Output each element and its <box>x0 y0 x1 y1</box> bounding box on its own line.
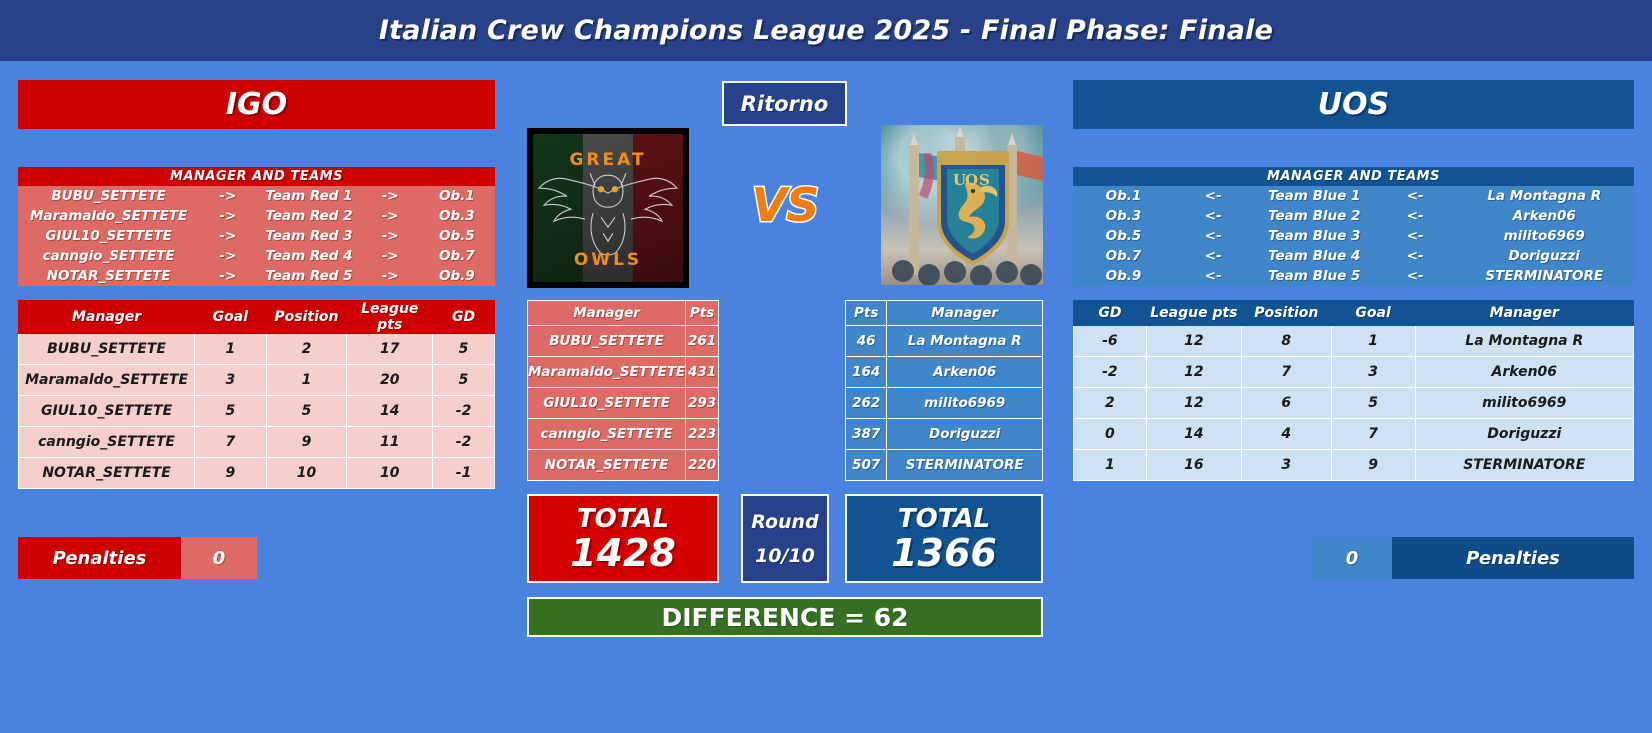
cell-slot: Ob.9 <box>1073 266 1174 286</box>
cell-manager: NOTAR_SETTETE <box>18 266 199 286</box>
cell-team: Team Blue 2 <box>1253 206 1376 226</box>
cell-slot: Ob.1 <box>419 186 495 206</box>
left-total-value: 1428 <box>570 534 676 574</box>
cell-league-pts: 14 <box>347 396 433 427</box>
table-row: Ob.5 <- Team Blue 3 <- milito6969 <box>1073 226 1634 246</box>
cell-pts: 507 <box>846 450 887 481</box>
cell-position: 6 <box>1241 388 1331 419</box>
cell-goal: 9 <box>195 458 266 489</box>
cell-position: 3 <box>1241 450 1331 481</box>
svg-text:S: S <box>979 171 990 189</box>
cell-arrow: <- <box>1174 246 1253 266</box>
left-penalties-label: Penalties <box>18 537 181 579</box>
cell-manager: Doriguzzi <box>887 419 1043 450</box>
table-row: Maramaldo_SETTETE 431 <box>528 357 719 388</box>
cell-manager: Doriguzzi <box>1454 246 1634 266</box>
cell-manager: Maramaldo_SETTETE <box>528 357 686 388</box>
cell-pts: 46 <box>846 326 887 357</box>
cell-gd: -2 <box>1074 357 1147 388</box>
cell-manager: milito6969 <box>1454 226 1634 246</box>
table-row: 262 milito6969 <box>846 388 1043 419</box>
cell-manager: Maramaldo_SETTETE <box>18 206 199 226</box>
crest-bottom-text: OWLS <box>527 250 689 270</box>
cell-gd: 2 <box>1074 388 1147 419</box>
cell-arrow: -> <box>361 266 418 286</box>
table-row: GIUL10_SETTETE 5 5 14 -2 <box>19 396 495 427</box>
table-row: Ob.1 <- Team Blue 1 <- La Montagna R <box>1073 186 1634 206</box>
cell-manager: STERMINATORE <box>887 450 1043 481</box>
cell-manager: milito6969 <box>887 388 1043 419</box>
cell-pts: 431 <box>686 357 719 388</box>
table-row: NOTAR_SETTETE 9 10 10 -1 <box>19 458 495 489</box>
cell-manager: La Montagna R <box>1454 186 1634 206</box>
cell-gd: 5 <box>433 334 495 365</box>
cell-arrow: <- <box>1174 266 1253 286</box>
cell-league-pts: 16 <box>1146 450 1241 481</box>
cell-slot: Ob.5 <box>1073 226 1174 246</box>
left-stats-table: Manager Goal Position League pts GD BUBU… <box>18 300 495 489</box>
table-row: Ob.9 <- Team Blue 5 <- STERMINATORE <box>1073 266 1634 286</box>
cell-manager: La Montagna R <box>887 326 1043 357</box>
col-goal: Goal <box>1331 301 1415 326</box>
right-stats-table: GD League pts Position Goal Manager -6 1… <box>1073 300 1634 481</box>
left-penalties: Penalties 0 <box>18 537 257 579</box>
cell-manager: milito6969 <box>1415 388 1633 419</box>
col-gd: GD <box>433 301 495 334</box>
cell-league-pts: 12 <box>1146 388 1241 419</box>
right-penalties-value: 0 <box>1312 537 1392 579</box>
round-value: 10/10 <box>755 545 815 567</box>
right-total-box: TOTAL 1366 <box>845 494 1043 583</box>
cell-position: 1 <box>266 365 347 396</box>
table-row: -2 12 7 3 Arken06 <box>1074 357 1634 388</box>
vs-label: VS <box>742 178 828 232</box>
col-manager: Manager <box>887 301 1043 326</box>
table-row: 164 Arken06 <box>846 357 1043 388</box>
right-penalties-label: Penalties <box>1392 537 1634 579</box>
cell-team: Team Blue 5 <box>1253 266 1376 286</box>
cell-team: Team Red 1 <box>256 186 361 206</box>
col-position: Position <box>266 301 347 334</box>
right-total-label: TOTAL <box>898 504 990 534</box>
cell-position: 7 <box>1241 357 1331 388</box>
table-row: GIUL10_SETTETE 293 <box>528 388 719 419</box>
table-row: Maramaldo_SETTETE 3 1 20 5 <box>19 365 495 396</box>
cell-league-pts: 17 <box>347 334 433 365</box>
cell-league-pts: 11 <box>347 427 433 458</box>
crest-top-text: GREAT <box>527 150 689 170</box>
round-label: Round <box>751 511 818 533</box>
right-penalties: 0 Penalties <box>1312 537 1634 579</box>
cell-goal: 1 <box>1331 326 1415 357</box>
table-row: Maramaldo_SETTETE -> Team Red 2 -> Ob.3 <box>18 206 495 226</box>
col-pts: Pts <box>686 301 719 326</box>
cell-pts: 387 <box>846 419 887 450</box>
cell-arrow: <- <box>1376 186 1455 206</box>
cell-manager: STERMINATORE <box>1454 266 1634 286</box>
cell-arrow: <- <box>1174 186 1253 206</box>
table-header-row: Manager Goal Position League pts GD <box>19 301 495 334</box>
page-title-bar: Italian Crew Champions League 2025 - Fin… <box>0 0 1652 61</box>
cell-position: 8 <box>1241 326 1331 357</box>
col-pts: Pts <box>846 301 887 326</box>
cell-arrow: -> <box>361 226 418 246</box>
left-team-banner: IGO <box>18 80 495 129</box>
cell-league-pts: 20 <box>347 365 433 396</box>
col-manager: Manager <box>1415 301 1633 326</box>
round-box: Round 10/10 <box>741 494 829 583</box>
cell-team: Team Blue 1 <box>1253 186 1376 206</box>
cell-manager: canngio_SETTETE <box>18 246 199 266</box>
cell-position: 10 <box>266 458 347 489</box>
right-points-table: Pts Manager 46 La Montagna R 164 Arken06… <box>845 300 1043 481</box>
right-total-value: 1366 <box>891 534 997 574</box>
right-manager-teams-header: MANAGER AND TEAMS <box>1073 167 1634 186</box>
cell-pts: 223 <box>686 419 719 450</box>
cell-slot: Ob.1 <box>1073 186 1174 206</box>
cell-slot: Ob.3 <box>1073 206 1174 226</box>
cell-manager: NOTAR_SETTETE <box>528 450 686 481</box>
table-row: NOTAR_SETTETE 220 <box>528 450 719 481</box>
table-row: 46 La Montagna R <box>846 326 1043 357</box>
table-row: 0 14 4 7 Doriguzzi <box>1074 419 1634 450</box>
cell-arrow: -> <box>199 266 256 286</box>
cell-manager: Arken06 <box>1415 357 1633 388</box>
cell-goal: 3 <box>1331 357 1415 388</box>
left-manager-teams-table: MANAGER AND TEAMS BUBU_SETTETE -> Team R… <box>18 167 495 286</box>
table-row: 507 STERMINATORE <box>846 450 1043 481</box>
cell-manager: BUBU_SETTETE <box>18 186 199 206</box>
cell-arrow: <- <box>1376 266 1455 286</box>
col-manager: Manager <box>19 301 195 334</box>
cell-goal: 7 <box>1331 419 1415 450</box>
table-row: BUBU_SETTETE 261 <box>528 326 719 357</box>
cell-goal: 5 <box>195 396 266 427</box>
cell-team: Team Blue 4 <box>1253 246 1376 266</box>
table-header-row: MANAGER AND TEAMS <box>18 167 495 186</box>
table-row: Ob.3 <- Team Blue 2 <- Arken06 <box>1073 206 1634 226</box>
table-row: -6 12 8 1 La Montagna R <box>1074 326 1634 357</box>
cell-gd: 5 <box>433 365 495 396</box>
col-manager: Manager <box>528 301 686 326</box>
cell-gd: 1 <box>1074 450 1147 481</box>
col-goal: Goal <box>195 301 266 334</box>
cell-slot: Ob.5 <box>419 226 495 246</box>
cell-arrow: -> <box>361 206 418 226</box>
cell-slot: Ob.3 <box>419 206 495 226</box>
left-points-table: Manager Pts BUBU_SETTETE 261 Maramaldo_S… <box>527 300 719 481</box>
cell-arrow: -> <box>199 186 256 206</box>
table-row: BUBU_SETTETE 1 2 17 5 <box>19 334 495 365</box>
leg-badge: Ritorno <box>722 81 847 126</box>
svg-text:O: O <box>965 171 978 189</box>
scoreboard-page: Italian Crew Champions League 2025 - Fin… <box>0 0 1652 733</box>
col-league-pts: League pts <box>1146 301 1241 326</box>
col-position: Position <box>1241 301 1331 326</box>
left-total-label: TOTAL <box>577 504 669 534</box>
cell-team: Team Red 2 <box>256 206 361 226</box>
table-header-row: Pts Manager <box>846 301 1043 326</box>
cell-team: Team Red 4 <box>256 246 361 266</box>
cell-manager: GIUL10_SETTETE <box>18 226 199 246</box>
cell-pts: 262 <box>846 388 887 419</box>
cell-arrow: <- <box>1376 226 1455 246</box>
cell-arrow: -> <box>361 186 418 206</box>
cell-position: 9 <box>266 427 347 458</box>
cell-manager: BUBU_SETTETE <box>19 334 195 365</box>
cell-goal: 9 <box>1331 450 1415 481</box>
cell-manager: GIUL10_SETTETE <box>528 388 686 419</box>
cell-team: Team Blue 3 <box>1253 226 1376 246</box>
right-team-crest: UOS <box>881 125 1043 285</box>
difference-bar: DIFFERENCE = 62 <box>527 597 1043 637</box>
cell-manager: Arken06 <box>887 357 1043 388</box>
cell-slot: Ob.9 <box>419 266 495 286</box>
cell-arrow: -> <box>199 226 256 246</box>
cell-slot: Ob.7 <box>1073 246 1174 266</box>
cell-league-pts: 10 <box>347 458 433 489</box>
table-row: canngio_SETTETE 223 <box>528 419 719 450</box>
cell-position: 5 <box>266 396 347 427</box>
table-row: canngio_SETTETE -> Team Red 4 -> Ob.7 <box>18 246 495 266</box>
cell-league-pts: 12 <box>1146 357 1241 388</box>
cell-arrow: -> <box>199 246 256 266</box>
cell-gd: -2 <box>433 396 495 427</box>
right-team-banner: UOS <box>1073 80 1634 129</box>
cell-arrow: <- <box>1376 206 1455 226</box>
page-title: Italian Crew Champions League 2025 - Fin… <box>379 15 1273 46</box>
cell-team: Team Red 3 <box>256 226 361 246</box>
cell-team: Team Red 5 <box>256 266 361 286</box>
cell-league-pts: 14 <box>1146 419 1241 450</box>
cell-manager: NOTAR_SETTETE <box>19 458 195 489</box>
cell-league-pts: 12 <box>1146 326 1241 357</box>
cell-position: 2 <box>266 334 347 365</box>
table-header-row: MANAGER AND TEAMS <box>1073 167 1634 186</box>
col-league-pts: League pts <box>347 301 433 334</box>
cell-arrow: <- <box>1174 226 1253 246</box>
cell-manager: canngio_SETTETE <box>19 427 195 458</box>
table-row: BUBU_SETTETE -> Team Red 1 -> Ob.1 <box>18 186 495 206</box>
cell-manager: Doriguzzi <box>1415 419 1633 450</box>
cell-goal: 7 <box>195 427 266 458</box>
table-row: 1 16 3 9 STERMINATORE <box>1074 450 1634 481</box>
left-team-crest: GREAT OWLS <box>527 128 689 288</box>
cell-goal: 3 <box>195 365 266 396</box>
table-row: 2 12 6 5 milito6969 <box>1074 388 1634 419</box>
cell-gd: 0 <box>1074 419 1147 450</box>
cell-pts: 261 <box>686 326 719 357</box>
table-header-row: GD League pts Position Goal Manager <box>1074 301 1634 326</box>
col-gd: GD <box>1074 301 1147 326</box>
cell-pts: 220 <box>686 450 719 481</box>
cell-gd: -6 <box>1074 326 1147 357</box>
cell-manager: STERMINATORE <box>1415 450 1633 481</box>
cell-arrow: -> <box>199 206 256 226</box>
left-total-box: TOTAL 1428 <box>527 494 719 583</box>
cell-arrow: -> <box>361 246 418 266</box>
cell-goal: 5 <box>1331 388 1415 419</box>
table-row: GIUL10_SETTETE -> Team Red 3 -> Ob.5 <box>18 226 495 246</box>
cell-gd: -1 <box>433 458 495 489</box>
table-header-row: Manager Pts <box>528 301 719 326</box>
cell-pts: 293 <box>686 388 719 419</box>
left-manager-teams-header: MANAGER AND TEAMS <box>18 167 495 186</box>
cell-arrow: <- <box>1174 206 1253 226</box>
table-row: Ob.7 <- Team Blue 4 <- Doriguzzi <box>1073 246 1634 266</box>
cell-manager: La Montagna R <box>1415 326 1633 357</box>
table-row: canngio_SETTETE 7 9 11 -2 <box>19 427 495 458</box>
cell-manager: Maramaldo_SETTETE <box>19 365 195 396</box>
table-row: NOTAR_SETTETE -> Team Red 5 -> Ob.9 <box>18 266 495 286</box>
cell-manager: Arken06 <box>1454 206 1634 226</box>
cell-slot: Ob.7 <box>419 246 495 266</box>
owl-graphic <box>533 155 683 265</box>
cell-goal: 1 <box>195 334 266 365</box>
cell-position: 4 <box>1241 419 1331 450</box>
cell-gd: -2 <box>433 427 495 458</box>
cell-manager: BUBU_SETTETE <box>528 326 686 357</box>
cell-manager: canngio_SETTETE <box>528 419 686 450</box>
cell-pts: 164 <box>846 357 887 388</box>
cell-manager: GIUL10_SETTETE <box>19 396 195 427</box>
crest-graphic: UOS <box>881 125 1043 285</box>
left-penalties-value: 0 <box>181 537 257 579</box>
table-row: 387 Doriguzzi <box>846 419 1043 450</box>
cell-arrow: <- <box>1376 246 1455 266</box>
right-manager-teams-table: MANAGER AND TEAMS Ob.1 <- Team Blue 1 <-… <box>1073 167 1634 286</box>
